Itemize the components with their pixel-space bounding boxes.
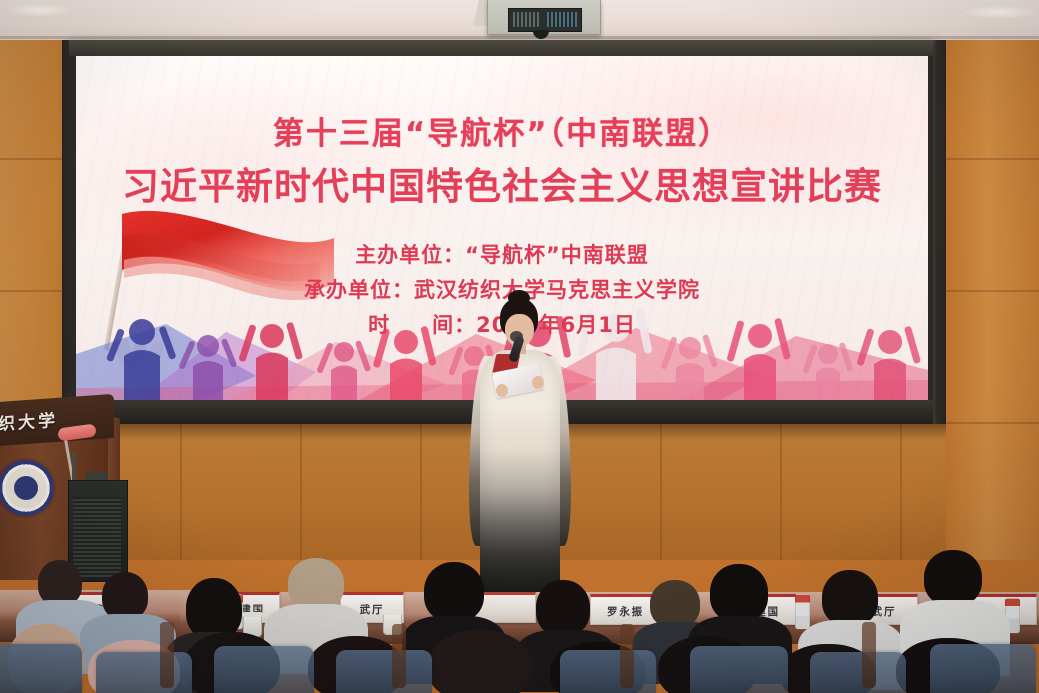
wall-right-column	[946, 40, 1039, 560]
screen-top-bar	[69, 40, 933, 56]
auditorium-chair	[214, 646, 314, 693]
chair-frame	[392, 624, 406, 688]
auditorium-chair	[930, 644, 1036, 693]
auditorium-chair	[336, 650, 432, 693]
slide-title-line2: 习近平新时代中国特色社会主义思想宣讲比赛	[76, 156, 928, 210]
conference-hall-photo: 第十三届“导航杯”（中南联盟） 习近平新时代中国特色社会主义思想宣讲比赛 主办单…	[0, 0, 1039, 693]
lectern-top: 织大学	[0, 394, 114, 446]
university-seal-core	[14, 476, 38, 500]
projector-vents	[508, 8, 582, 32]
ceiling-seam	[0, 36, 1039, 39]
slide-time-label: 时	[368, 313, 390, 337]
ceiling-light	[8, 4, 70, 16]
auditorium-chair	[0, 644, 82, 693]
slide-organizer-line: 主办单位：“导航杯”中南联盟	[76, 239, 928, 269]
audience-member	[418, 630, 548, 693]
chair-frame	[862, 622, 876, 688]
university-seal-icon	[0, 460, 54, 516]
auditorium-chair	[690, 646, 788, 693]
auditorium-chair	[560, 650, 656, 693]
chair-frame	[620, 624, 634, 688]
ceiling-light	[965, 6, 1035, 18]
presenter-hand-left	[496, 384, 508, 397]
auditorium-chair	[810, 652, 906, 693]
presenter-hand-right	[532, 376, 544, 389]
chair-frame	[160, 622, 174, 688]
slide-title-line1: 第十三届“导航杯”（中南联盟）	[76, 108, 928, 153]
auditorium-chair	[96, 652, 192, 693]
audience	[0, 540, 1039, 693]
